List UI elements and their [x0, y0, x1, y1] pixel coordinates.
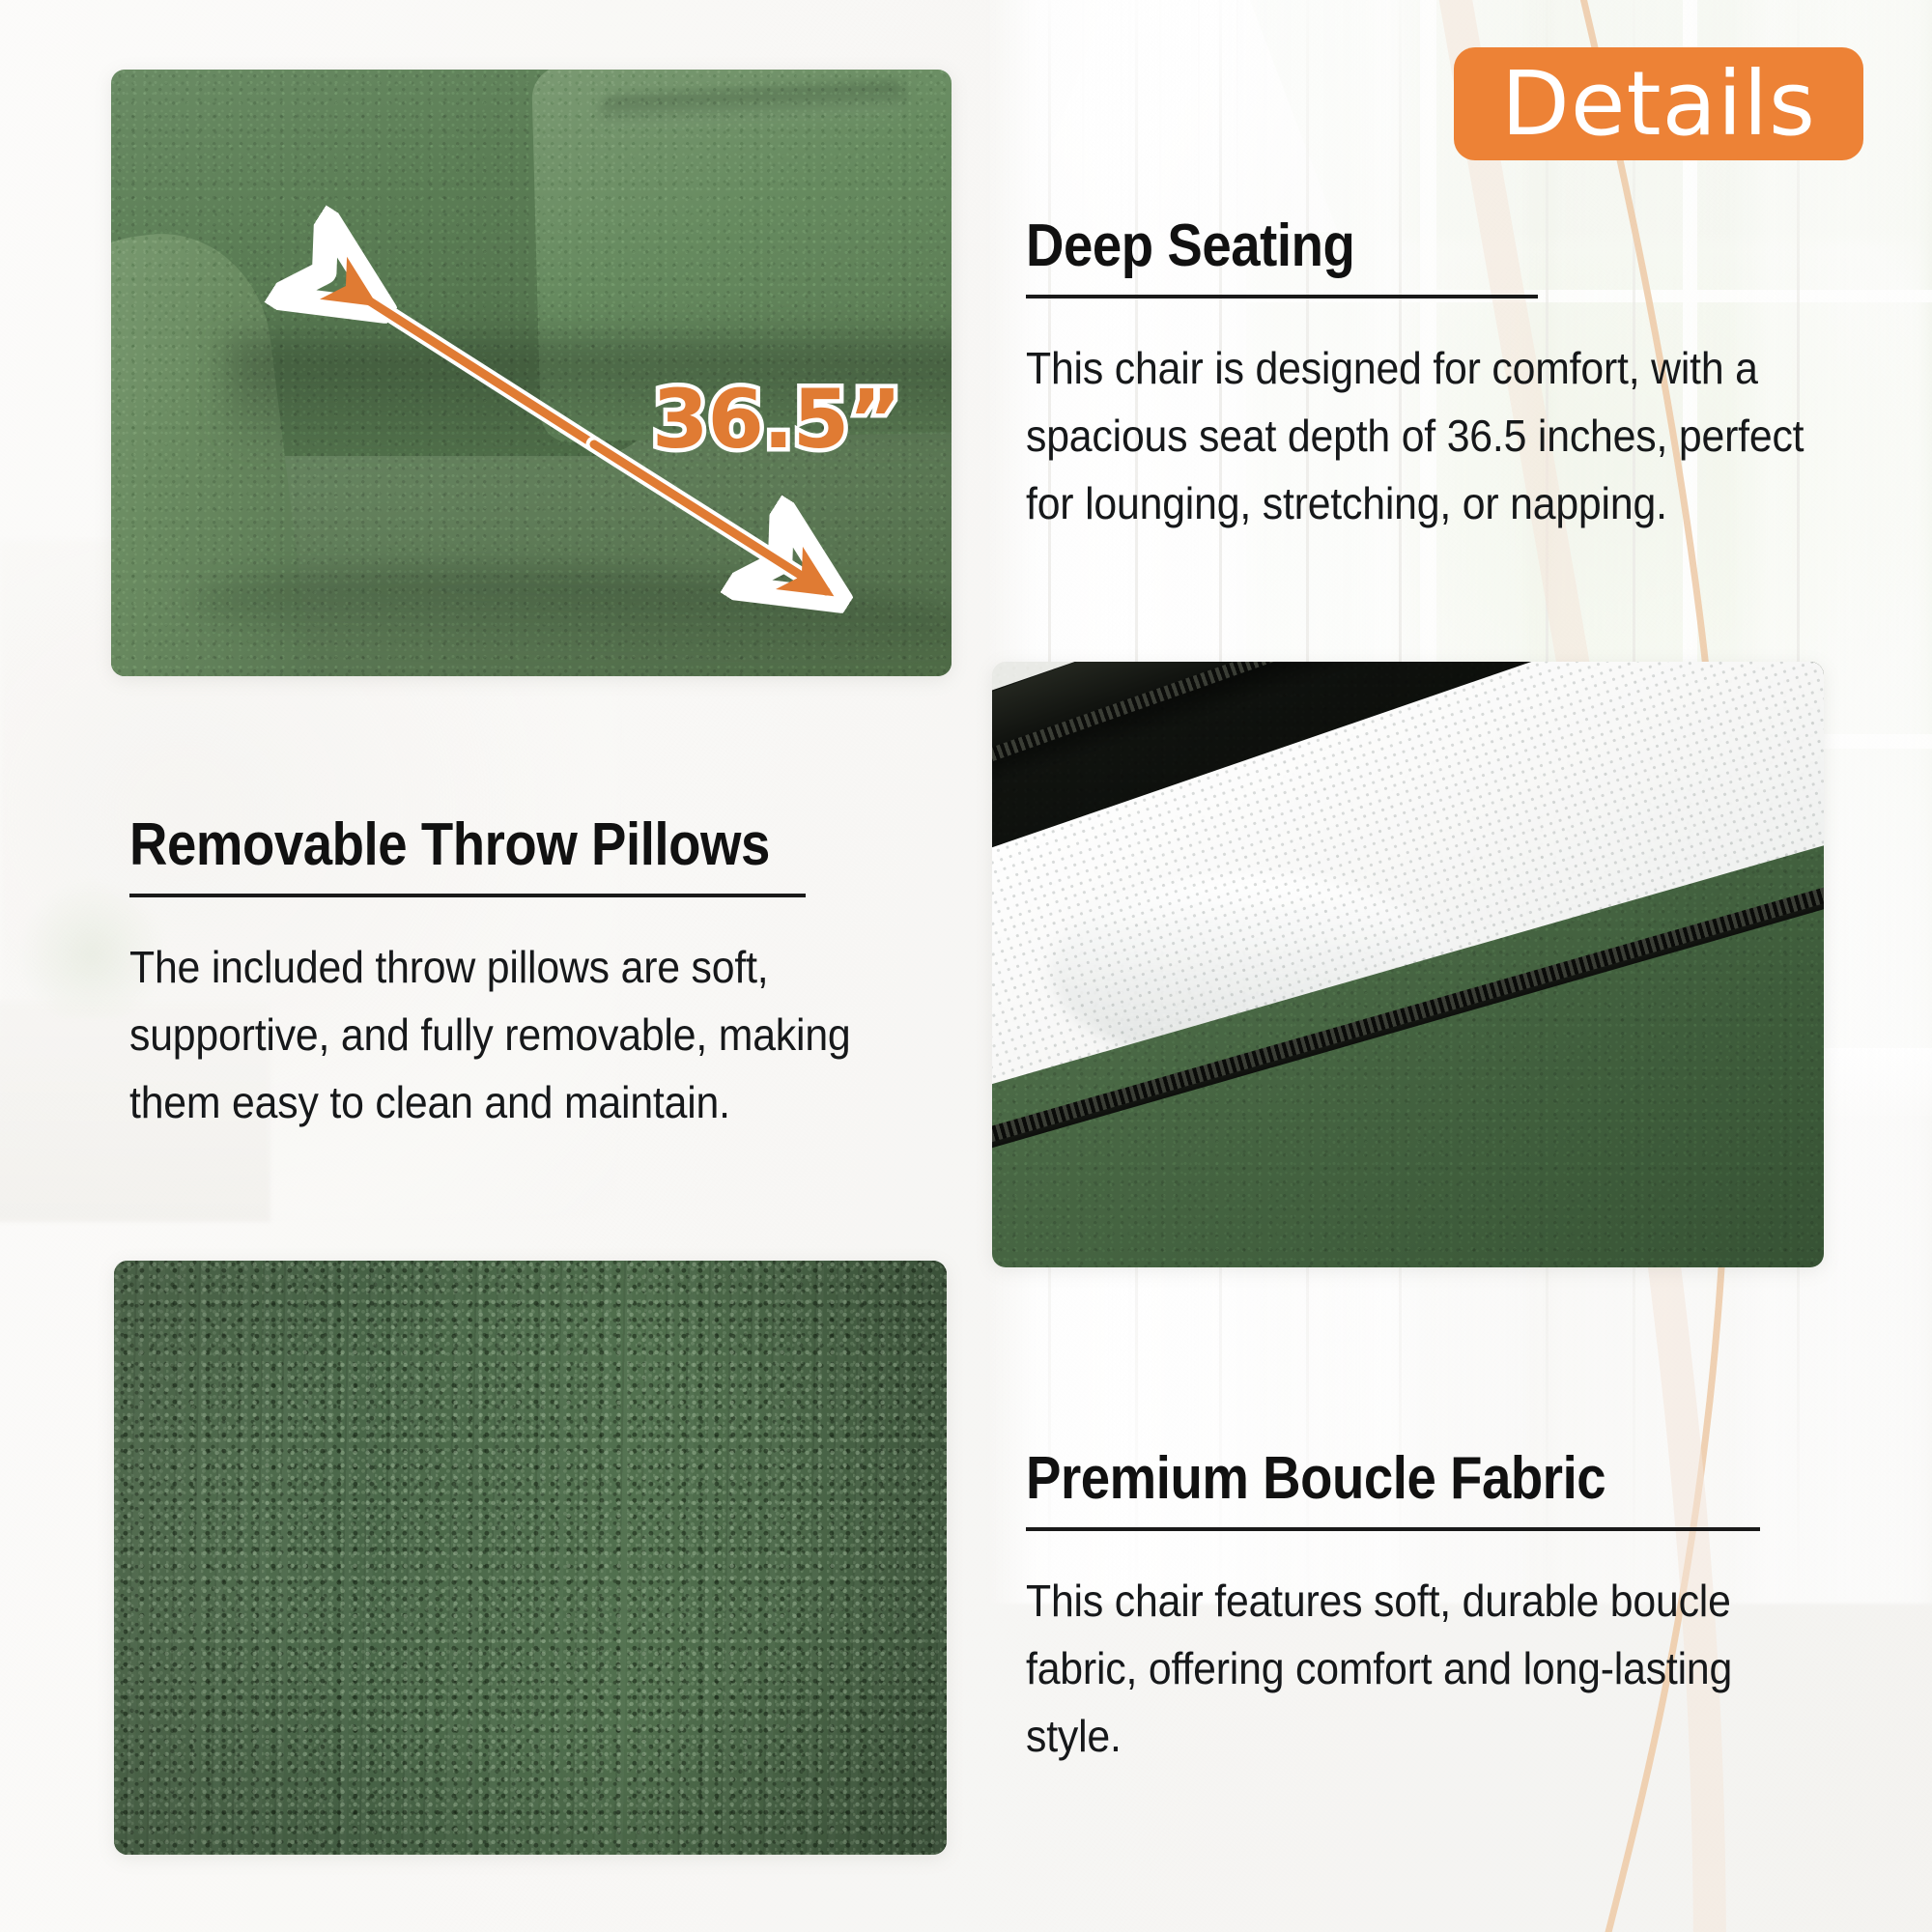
heading-rule: [129, 894, 806, 897]
dimension-label: 36.5”: [652, 379, 900, 460]
section-deep-seating: Deep Seating This chair is designed for …: [1026, 214, 1866, 538]
details-badge-label: Details: [1501, 60, 1816, 149]
section-body-deep-seating: This chair is designed for comfort, with…: [1026, 335, 1807, 538]
section-throw-pillows: Removable Throw Pillows The included thr…: [129, 813, 931, 1137]
details-badge: Details: [1454, 47, 1863, 160]
section-heading-deep-seating: Deep Seating: [1026, 214, 1766, 279]
section-heading-boucle-fabric: Premium Boucle Fabric: [1026, 1447, 1774, 1512]
dimension-annotation: 36.5”: [111, 70, 952, 676]
heading-rule: [1026, 295, 1538, 298]
heading-rule: [1026, 1527, 1760, 1531]
cushion-zipper-photo: [992, 662, 1824, 1267]
swatch-vignette: [114, 1261, 947, 1855]
dimension-arrow-line-upper: [370, 301, 594, 444]
section-body-throw-pillows: The included throw pillows are soft, sup…: [129, 934, 875, 1137]
section-heading-throw-pillows: Removable Throw Pillows: [129, 813, 835, 878]
section-boucle-fabric: Premium Boucle Fabric This chair feature…: [1026, 1447, 1876, 1771]
section-body-boucle-fabric: This chair features soft, durable boucle…: [1026, 1568, 1816, 1771]
fabric-swatch-photo: [114, 1261, 947, 1855]
